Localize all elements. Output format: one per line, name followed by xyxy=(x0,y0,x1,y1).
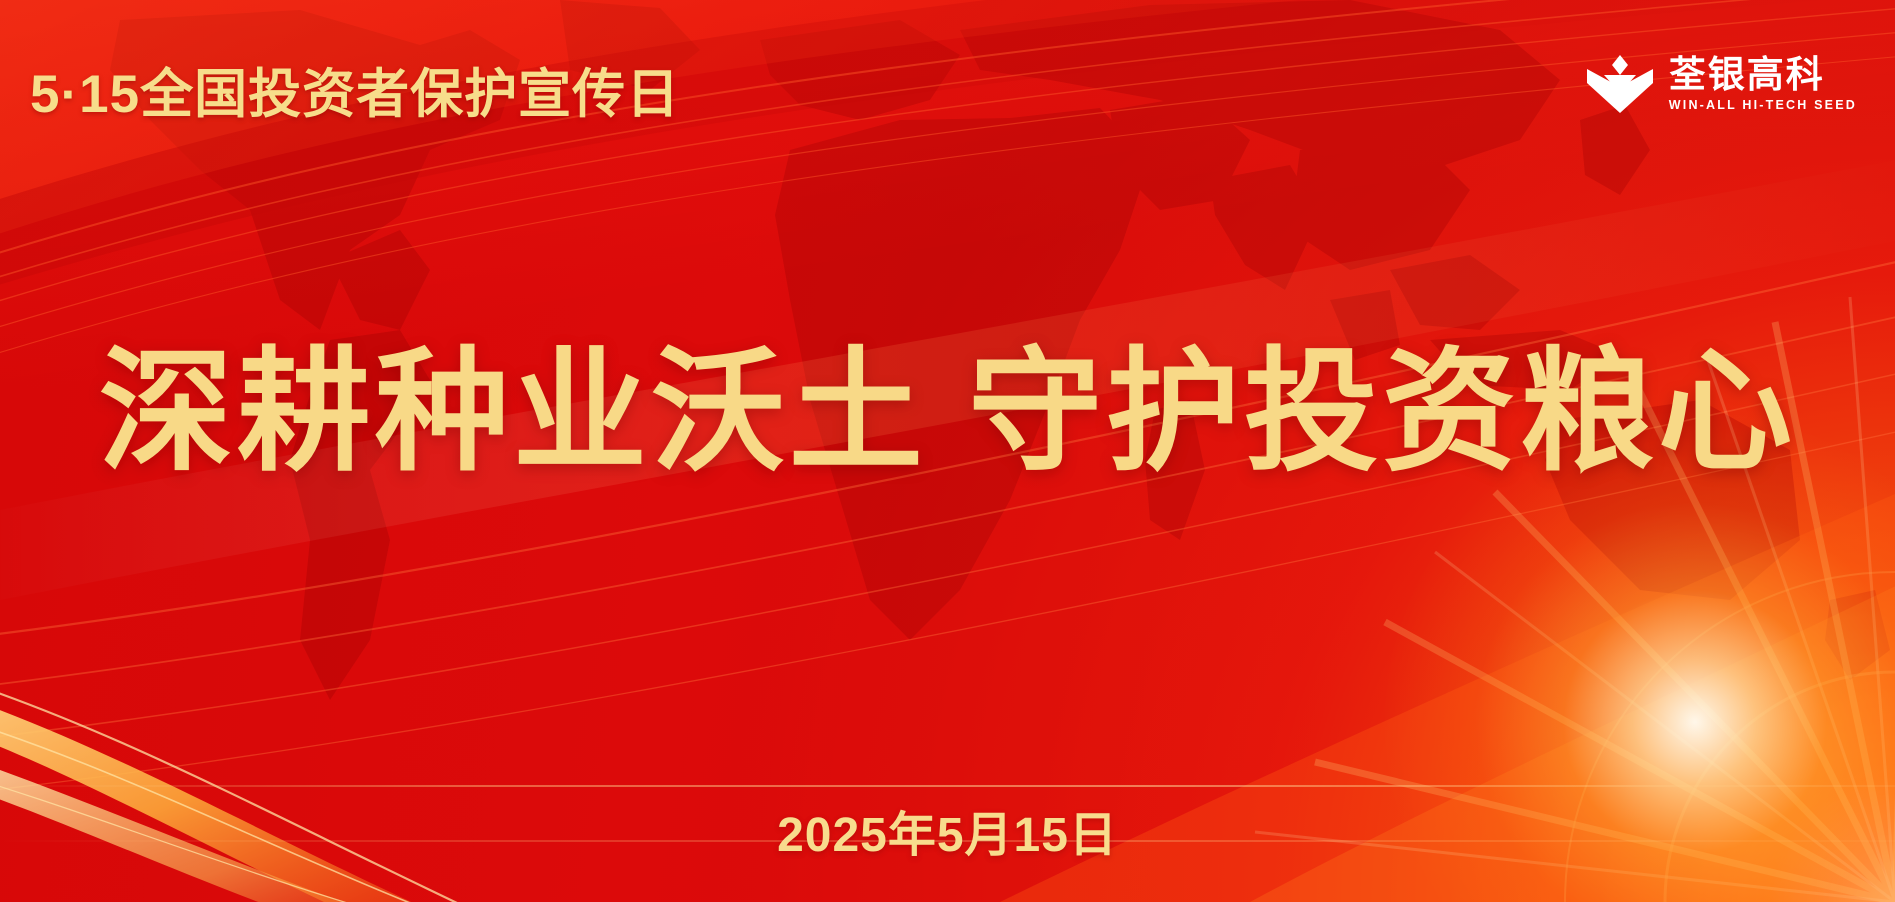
investor-protection-banner: 5·15全国投资者保护宣传日 荃银高科 WIN-ALL HI-TECH SEED… xyxy=(0,0,1895,902)
campaign-headline: 5·15全国投资者保护宣传日 xyxy=(30,52,680,128)
company-name-cn: 荃银高科 xyxy=(1669,56,1857,95)
event-date: 2025年5月15日 xyxy=(0,795,1895,865)
winall-chevron-seed-icon xyxy=(1587,53,1653,115)
main-slogan: 深耕种业沃土 守护投资粮心 xyxy=(0,338,1895,488)
horizon-light-line xyxy=(0,785,1895,787)
company-logo-text: 荃银高科 WIN-ALL HI-TECH SEED xyxy=(1669,56,1857,112)
company-logo-lockup: 荃银高科 WIN-ALL HI-TECH SEED xyxy=(1587,48,1857,120)
company-name-en: WIN-ALL HI-TECH SEED xyxy=(1669,98,1857,112)
